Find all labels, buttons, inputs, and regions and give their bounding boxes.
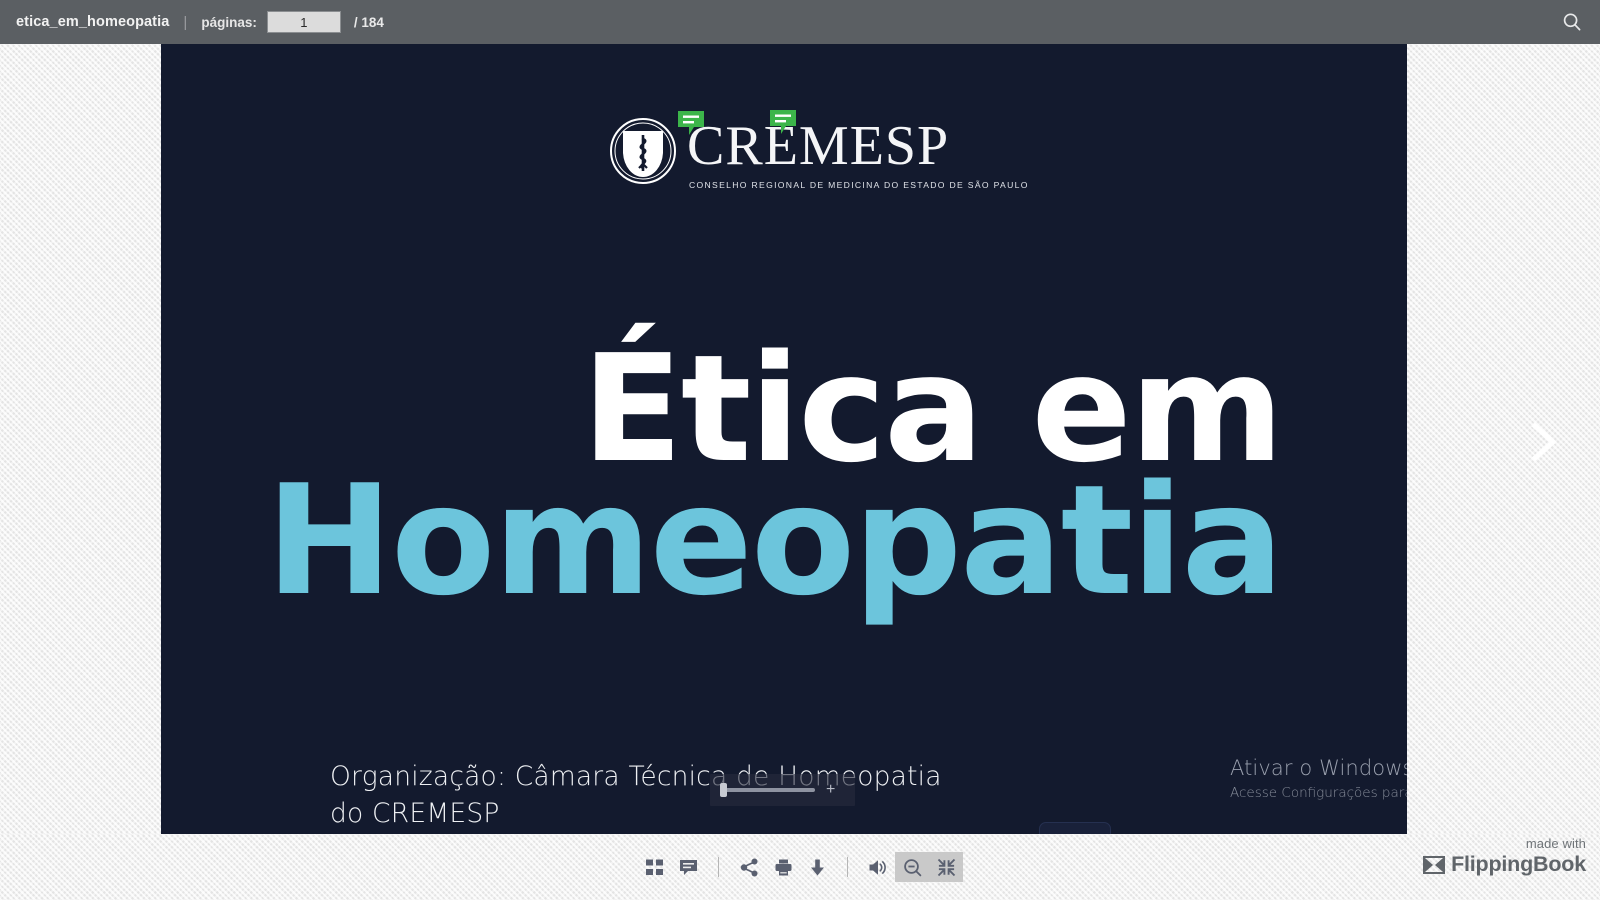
toolbar-button-group [637,850,963,884]
exit-fullscreen-button[interactable] [929,852,963,882]
chevron-right-icon [1523,420,1563,464]
notes-icon [679,858,698,877]
page-number-input[interactable] [267,11,341,33]
thumbnails-button[interactable] [637,852,671,882]
bottom-toolbar [0,834,1600,900]
cremesp-wordmark: CREMESP [687,118,949,174]
collapse-arrows-icon [937,858,956,877]
open-book-icon [1423,855,1445,875]
organization-credit: Organização: Câmara Técnica de Homeopati… [330,759,970,832]
pages-label: páginas: [201,15,257,30]
flippingbook-name: FlippingBook [1451,852,1586,877]
comment-marker-icon[interactable] [678,111,705,136]
share-icon [740,858,759,877]
sound-button[interactable] [861,852,895,882]
watermark-title: Ativar o Windows [1230,756,1407,780]
search-button[interactable] [1558,8,1586,36]
magnifier-minus-icon [903,858,922,877]
comment-marker-icon[interactable] [770,110,797,135]
cremesp-subtitle: CONSELHO REGIONAL DE MEDICINA DO ESTADO … [689,180,1029,190]
flippingbook-credit[interactable]: made with FlippingBook [1423,836,1586,877]
zoom-slider-track[interactable] [720,788,815,792]
download-button[interactable] [800,852,834,882]
toolbar-divider [847,857,848,877]
page-headline: Ética em Homeopatia [161,344,1407,608]
windows-activation-watermark: Ativar o Windows Acesse Configurações pa… [1230,756,1407,801]
printer-icon [774,858,793,877]
zoom-slider-handle[interactable] [720,783,727,797]
document-title: etica_em_homeopatia [16,14,169,30]
search-icon [1562,12,1582,32]
next-page-button[interactable] [1523,420,1563,464]
zoom-in-button[interactable]: + [826,782,835,798]
zoom-slider-panel[interactable]: + [710,774,855,806]
page-total-label: / 184 [354,15,384,30]
print-button[interactable] [766,852,800,882]
asclepius-shield-icon [609,117,677,185]
flippingbook-brand: FlippingBook [1423,852,1586,877]
share-button[interactable] [732,852,766,882]
zoom-out-button[interactable] [895,852,929,882]
top-bar: etica_em_homeopatia | páginas: / 184 [0,0,1600,44]
watermark-subtitle: Acesse Configurações para ativar o Windo… [1230,785,1407,801]
speaker-icon [868,858,888,877]
grid-thumbnails-icon [645,858,664,877]
notes-button[interactable] [671,852,705,882]
toolbar-divider [718,857,719,877]
decorative-shape [1039,822,1111,834]
download-arrow-icon [808,858,827,877]
document-page[interactable]: CREMESP CONSELHO REGIONAL DE MEDICINA DO… [161,44,1407,834]
made-with-label: made with [1423,836,1586,851]
headline-line-accent: Homeopatia [161,474,1282,608]
title-separator: | [183,14,187,31]
